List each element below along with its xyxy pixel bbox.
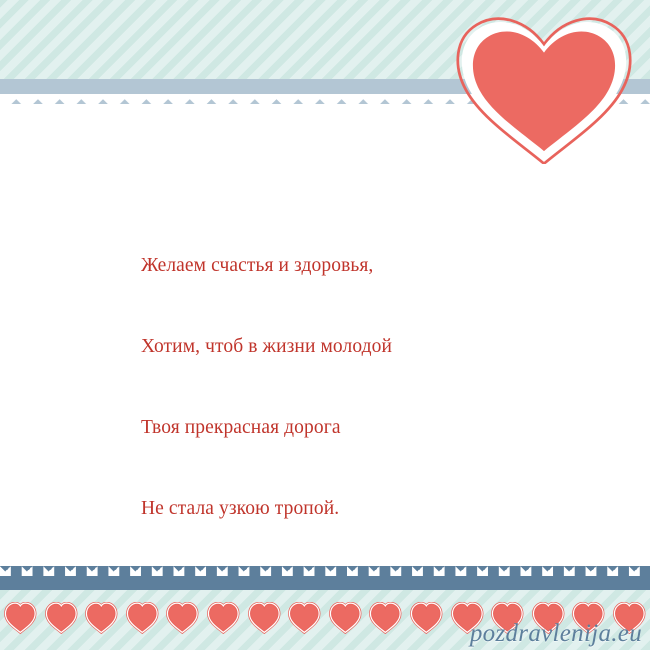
bottom-zigzag-edge xyxy=(0,566,650,576)
poem-line: Не стала узкою тропой. xyxy=(141,495,561,522)
mini-heart-icon xyxy=(244,602,285,634)
mini-heart-icon xyxy=(0,602,41,634)
poem-stanza: Желаем счастья и здоровья, Хотим, чтоб в… xyxy=(141,198,561,576)
watermark-label: pozdravlenija.eu xyxy=(470,620,642,648)
mini-heart-icon xyxy=(122,602,163,634)
mini-heart-icon xyxy=(284,602,325,634)
mini-heart-icon xyxy=(162,602,203,634)
poem-line: Хотим, чтоб в жизни молодой xyxy=(141,333,561,360)
poem-line: Желаем счастья и здоровья, xyxy=(141,252,561,279)
mini-heart-icon xyxy=(365,602,406,634)
mini-heart-icon xyxy=(325,602,366,634)
greeting-card: Желаем счастья и здоровья, Хотим, чтоб в… xyxy=(0,0,650,650)
mini-heart-icon xyxy=(203,602,244,634)
mini-heart-icon xyxy=(81,602,122,634)
hero-heart-icon xyxy=(456,12,632,164)
poem-line: Твоя прекрасная дорога xyxy=(141,414,561,441)
mini-heart-icon xyxy=(406,602,447,634)
mini-heart-icon xyxy=(41,602,82,634)
